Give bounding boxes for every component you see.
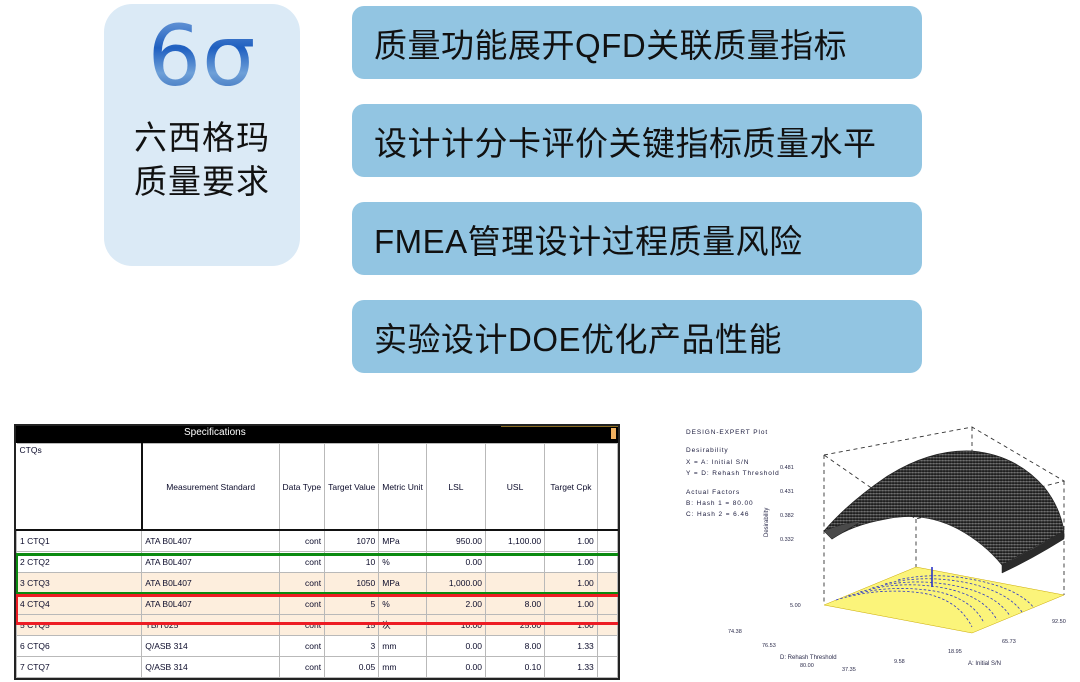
spec-cell-target-value: 15 — [325, 615, 379, 636]
x-tick-2: 18.95 — [948, 649, 962, 655]
spec-cell-standard: ATA B0L407 — [142, 594, 279, 615]
spec-cell-overflow — [597, 636, 617, 657]
spec-cell-metric-unit: % — [379, 594, 427, 615]
spec-cell-overflow — [597, 594, 617, 615]
spec-cell-target-value: 0.05 — [325, 657, 379, 678]
header-data-type: Data Type — [279, 444, 325, 531]
header-overflow-column — [597, 444, 617, 531]
table-row[interactable]: 3 CTQ3ATA B0L407cont1050MPa1,000.001.00 — [17, 573, 618, 594]
spec-cell-usl — [486, 552, 545, 573]
six-sigma-title-line2: 质量要求 — [134, 160, 270, 204]
spec-cell-target-value: 10 — [325, 552, 379, 573]
title-bar-marker — [611, 428, 616, 439]
spec-cell-target-cpk: 1.33 — [545, 678, 598, 681]
spec-cell-overflow — [597, 615, 617, 636]
spec-cell-metric-unit: MPa — [379, 573, 427, 594]
x-axis-title: A: Initial S/N — [968, 661, 1001, 667]
header-target-value: Target Value — [325, 444, 379, 531]
spec-cell-lsl: 2.00 — [426, 594, 485, 615]
spec-cell-data-type: cont — [279, 636, 325, 657]
contour-base-plane — [824, 567, 1064, 633]
surface-plot-panel: DESIGN-EXPERT Plot Desirability X = A: I… — [672, 415, 1080, 682]
spec-cell-ctq: 7 CTQ7 — [17, 657, 142, 678]
header-lsl: LSL — [426, 444, 485, 531]
spec-cell-standard: ATA B0L407 — [142, 530, 279, 552]
spec-cell-ctq: 1 CTQ1 — [17, 530, 142, 552]
banner-item-fmea[interactable]: FMEA管理设计过程质量风险 — [352, 202, 922, 275]
spec-cell-metric-unit: mm — [379, 657, 427, 678]
spec-cell-target-cpk: 1.00 — [545, 573, 598, 594]
spec-cell-metric-unit: MPa — [379, 530, 427, 552]
header-target-cpk: Target Cpk — [545, 444, 598, 531]
table-row[interactable]: 7 CTQ7Q/ASB 314cont0.05mm0.000.101.33 — [17, 657, 618, 678]
spec-cell-standard: YB/T025 — [142, 615, 279, 636]
spec-cell-target-value: 5 — [325, 594, 379, 615]
header-ctqs: CTQs — [17, 444, 142, 531]
z-axis-title: Desirability — [764, 508, 770, 537]
spec-cell-overflow — [597, 573, 617, 594]
table-row[interactable]: 5 CTQ5YB/T025cont15次10.0025.001.00 — [17, 615, 618, 636]
banner-item-scorecard[interactable]: 设计计分卡评价关键指标质量水平 — [352, 104, 922, 177]
spec-cell-data-type: cont — [279, 615, 325, 636]
spec-cell-standard: ATA B0L407 — [142, 552, 279, 573]
y-tick-3: 80.00 — [800, 663, 814, 669]
spec-table-body: 1 CTQ1ATA B0L407cont1070MPa950.001,100.0… — [17, 530, 618, 680]
spec-cell-target-cpk: 1.00 — [545, 594, 598, 615]
spec-cell-lsl: 10.00 — [426, 615, 485, 636]
spec-cell-lsl: 0.00 — [426, 636, 485, 657]
spec-cell-target-cpk: 1.33 — [545, 657, 598, 678]
table-row[interactable]: 2 CTQ2ATA B0L407cont10%0.001.00 — [17, 552, 618, 573]
spec-table-title: Specifications — [184, 427, 246, 438]
spec-cell-target-cpk: 1.00 — [545, 615, 598, 636]
six-sigma-glyph: 6σ — [148, 10, 257, 100]
spec-cell-standard: Q/ASB 314 — [142, 657, 279, 678]
spec-cell-overflow — [597, 678, 617, 681]
spec-cell-usl — [486, 573, 545, 594]
z-axis-ticks: 0.481 0.431 0.382 0.332 — [780, 465, 794, 543]
spec-cell-usl: 0.10 — [486, 657, 545, 678]
spec-cell-lsl: 0.00 — [426, 657, 485, 678]
spec-cell-usl: 0.90 — [486, 678, 545, 681]
spec-cell-metric-unit: Ra — [379, 678, 427, 681]
spec-cell-data-type: cont — [279, 678, 325, 681]
spec-cell-lsl: 1,000.00 — [426, 573, 485, 594]
banner-item-qfd[interactable]: 质量功能展开QFD关联质量指标 — [352, 6, 922, 79]
x-tick-3: 65.73 — [1002, 639, 1016, 645]
spec-cell-ctq: 2 CTQ2 — [17, 552, 142, 573]
spec-cell-target-value: 3 — [325, 636, 379, 657]
spec-table-panel: Specifications CTQs Measurement Standard… — [14, 424, 620, 680]
spec-cell-overflow — [597, 552, 617, 573]
spec-cell-usl: 25.00 — [486, 615, 545, 636]
header-measurement-standard: Measurement Standard — [142, 444, 279, 531]
spec-cell-target-value: 1070 — [325, 530, 379, 552]
six-sigma-card: 6σ 六西格玛 质量要求 — [104, 4, 300, 266]
spec-cell-ctq: 4 CTQ4 — [17, 594, 142, 615]
spec-cell-standard: ATA B0L407 — [142, 573, 279, 594]
spec-table-head: CTQs Measurement Standard Data Type Targ… — [17, 444, 618, 531]
spec-cell-usl: 8.00 — [486, 636, 545, 657]
spec-cell-data-type: cont — [279, 573, 325, 594]
spec-cell-overflow — [597, 657, 617, 678]
spec-cell-lsl: 0.00 — [426, 552, 485, 573]
table-row[interactable]: 6 CTQ6Q/ASB 314cont3mm0.008.001.33 — [17, 636, 618, 657]
x-tick-0: 37.35 — [842, 667, 856, 673]
spec-cell-target-value: 0.3 — [325, 678, 379, 681]
spec-cell-target-cpk: 1.00 — [545, 552, 598, 573]
spec-table-header-row: CTQs Measurement Standard Data Type Targ… — [17, 444, 618, 531]
spec-cell-standard: ATA B0L407 — [142, 678, 279, 681]
top-section: 6σ 六西格玛 质量要求 质量功能展开QFD关联质量指标 设计计分卡评价关键指标… — [0, 0, 1080, 400]
surface-plot-svg: 0.481 0.431 0.382 0.332 Desirability 5.0… — [672, 415, 1080, 682]
y-axis-title: D: Rehash Threshold — [780, 655, 837, 661]
spec-cell-data-type: cont — [279, 530, 325, 552]
table-row[interactable]: 8 CTQ8ATA B0L407cont0.3Ra0.000.901.33 — [17, 678, 618, 681]
desirability-surface — [824, 451, 1064, 573]
spec-cell-lsl: 950.00 — [426, 530, 485, 552]
spec-cell-target-cpk: 1.00 — [545, 530, 598, 552]
spec-table: CTQs Measurement Standard Data Type Targ… — [16, 443, 618, 680]
y-tick-0: 5.00 — [790, 603, 801, 609]
spec-cell-standard: Q/ASB 314 — [142, 636, 279, 657]
spec-cell-data-type: cont — [279, 657, 325, 678]
spec-cell-overflow — [597, 530, 617, 552]
spec-cell-metric-unit: mm — [379, 636, 427, 657]
y-tick-1: 74.38 — [728, 629, 742, 635]
banner-item-doe[interactable]: 实验设计DOE优化产品性能 — [352, 300, 922, 373]
six-sigma-title: 六西格玛 质量要求 — [134, 116, 270, 203]
header-usl: USL — [486, 444, 545, 531]
spec-cell-target-cpk: 1.33 — [545, 636, 598, 657]
spec-table-title-bar: Specifications — [16, 426, 618, 443]
spec-cell-target-value: 1050 — [325, 573, 379, 594]
spec-cell-ctq: 6 CTQ6 — [17, 636, 142, 657]
six-sigma-title-line1: 六西格玛 — [134, 116, 270, 160]
spec-cell-metric-unit: 次 — [379, 615, 427, 636]
spec-cell-metric-unit: % — [379, 552, 427, 573]
z-tick-0: 0.481 — [780, 465, 794, 471]
spec-cell-ctq: 3 CTQ3 — [17, 573, 142, 594]
spec-cell-data-type: cont — [279, 552, 325, 573]
table-row[interactable]: 4 CTQ4ATA B0L407cont5%2.008.001.00 — [17, 594, 618, 615]
spec-cell-data-type: cont — [279, 594, 325, 615]
x-tick-1: 9.58 — [894, 659, 905, 665]
header-metric-unit: Metric Unit — [379, 444, 427, 531]
table-row[interactable]: 1 CTQ1ATA B0L407cont1070MPa950.001,100.0… — [17, 530, 618, 552]
z-tick-2: 0.382 — [780, 513, 794, 519]
spec-cell-ctq: 5 CTQ5 — [17, 615, 142, 636]
z-tick-1: 0.431 — [780, 489, 794, 495]
y-tick-2: 76.53 — [762, 643, 776, 649]
title-bar-accent — [501, 424, 620, 427]
spec-cell-usl: 8.00 — [486, 594, 545, 615]
z-tick-3: 0.332 — [780, 537, 794, 543]
spec-cell-ctq: 8 CTQ8 — [17, 678, 142, 681]
x-tick-4: 92.50 — [1052, 619, 1066, 625]
spec-cell-lsl: 0.00 — [426, 678, 485, 681]
spec-cell-usl: 1,100.00 — [486, 530, 545, 552]
